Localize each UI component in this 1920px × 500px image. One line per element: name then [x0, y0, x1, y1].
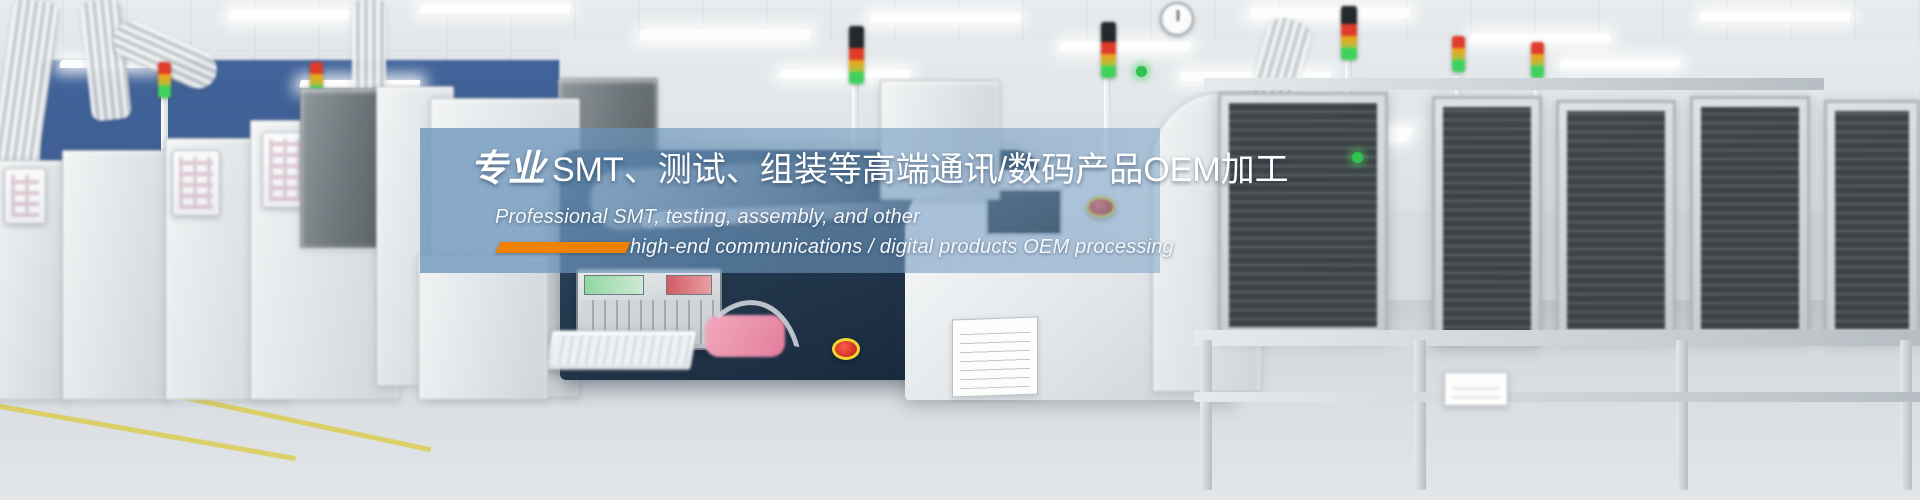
tower-light [1452, 36, 1465, 72]
headline-emphasis: 专业 [470, 148, 552, 189]
storage-rack [1432, 96, 1542, 346]
ceiling-lamp [1059, 42, 1191, 51]
control-indicator [666, 275, 712, 295]
ceiling-lamp [1699, 12, 1851, 21]
rack-frame [1414, 340, 1426, 490]
tower-light [1341, 6, 1357, 60]
rack-frame [1204, 78, 1824, 90]
operator-keyboard [544, 330, 697, 370]
rack-label [1444, 372, 1508, 406]
rack-frame [1676, 340, 1688, 490]
machine-display [4, 168, 46, 224]
banner-headline: 专业SMT、测试、组装等高端通讯/数码产品OEM加工 [470, 150, 1289, 187]
headline-rest: SMT、测试、组装等高端通讯/数码产品OEM加工 [552, 151, 1289, 189]
storage-rack [1690, 96, 1810, 340]
rack-frame [1200, 340, 1212, 490]
machine-display [172, 150, 220, 216]
tower-light [849, 26, 864, 84]
ceiling-lamp [1559, 60, 1681, 68]
control-indicator [584, 275, 644, 295]
banner-subtitle-line-1: Professional SMT, testing, assembly, and… [495, 206, 920, 229]
status-led [1136, 66, 1147, 77]
ceiling-lamp [419, 4, 571, 13]
orange-accent-bar [496, 242, 631, 253]
smt-machine [62, 150, 172, 400]
smt-machine [418, 255, 548, 400]
tower-light [158, 62, 171, 98]
storage-rack [1218, 92, 1388, 338]
storage-rack [1556, 100, 1676, 340]
tower-light [1531, 42, 1544, 78]
emergency-stop-button [832, 338, 860, 360]
wall-clock-icon [1160, 2, 1194, 36]
smt-machine-head [300, 88, 386, 248]
banner-subtitle-line-2: high-end communications / digital produc… [630, 236, 1174, 259]
tower-light [1101, 22, 1116, 78]
rack-frame [1194, 392, 1920, 402]
ceiling-lamp [869, 14, 1021, 23]
storage-rack [1824, 100, 1920, 340]
hero-banner: 专业SMT、测试、组装等高端通讯/数码产品OEM加工 Professional … [0, 0, 1920, 500]
machine-document [952, 316, 1038, 397]
status-led [1352, 152, 1363, 163]
ceiling-lamp [1249, 8, 1411, 18]
ceiling-lamp [229, 10, 351, 20]
headline-overlay-panel: 专业SMT、测试、组装等高端通讯/数码产品OEM加工 Professional … [420, 128, 1160, 273]
rack-frame [1900, 340, 1912, 490]
ceiling-lamp [639, 30, 811, 40]
ceiling-lamp [779, 70, 911, 78]
rack-frame [1194, 330, 1920, 346]
